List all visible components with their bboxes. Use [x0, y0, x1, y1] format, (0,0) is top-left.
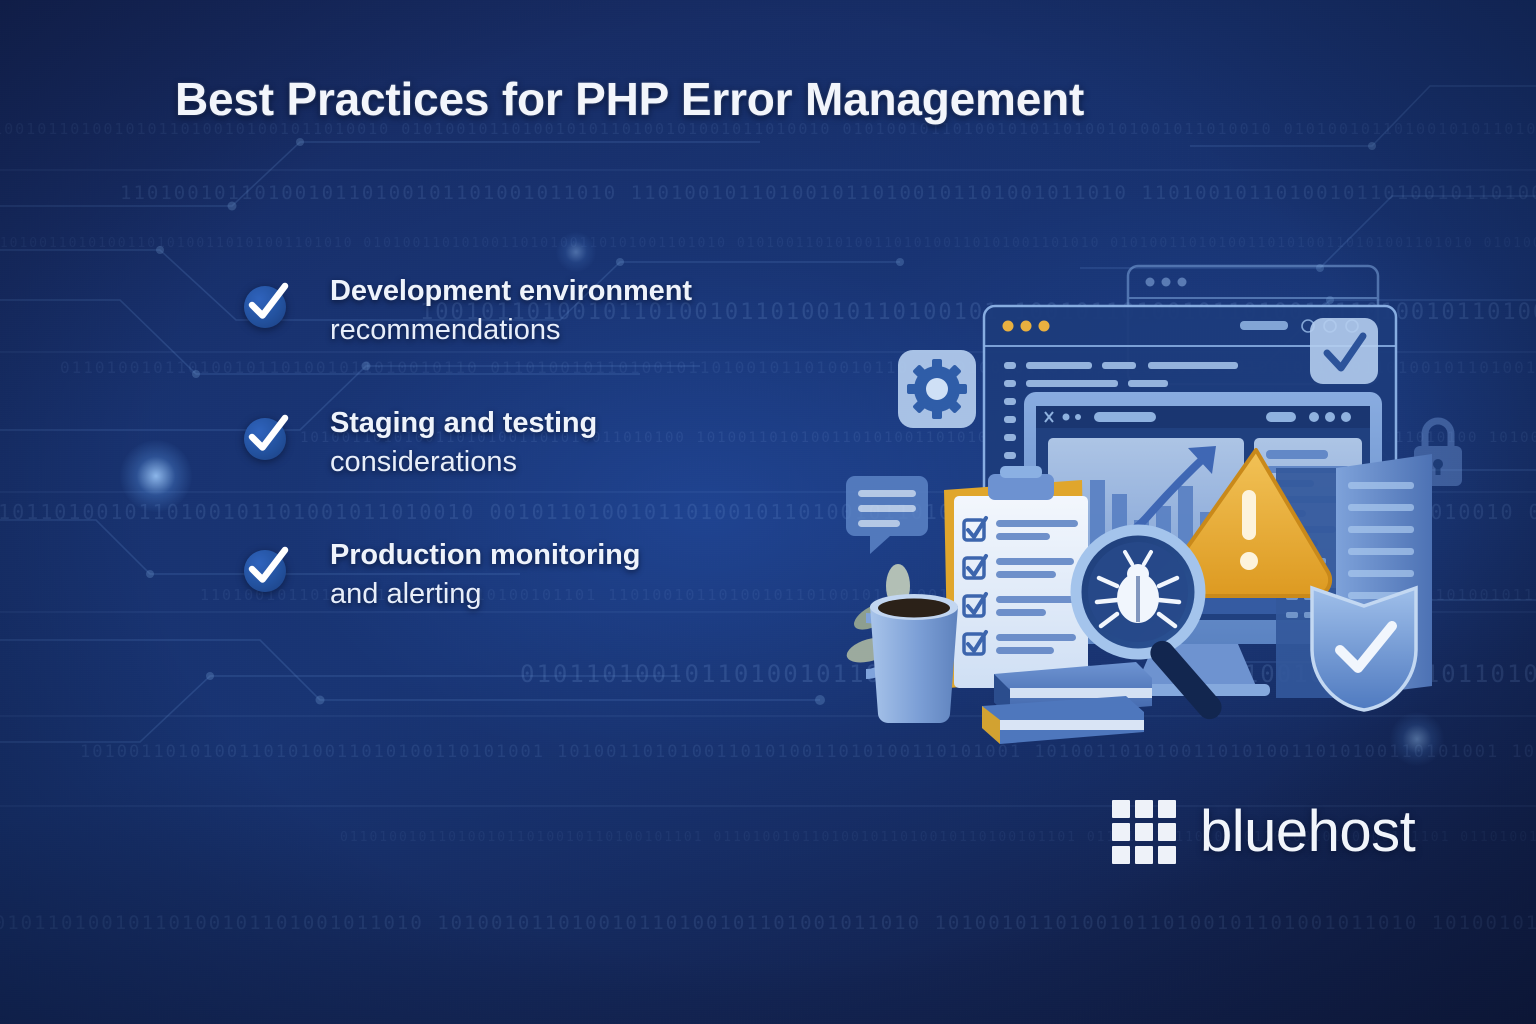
- binary-row: 101001011010010110100101101001011010 101…: [0, 912, 1536, 934]
- check-circle-icon: [244, 414, 290, 460]
- chat-bubble-icon: [846, 476, 928, 554]
- binary-row: 0101001101010011010100110101001101010 01…: [0, 236, 1536, 251]
- page-title: Best Practices for PHP Error Management: [175, 72, 1084, 126]
- shield-check-icon: [1312, 588, 1416, 710]
- check-badge-icon: [1310, 318, 1378, 384]
- list-item-title: Development environment: [330, 272, 858, 311]
- list-item-subtitle: and alerting: [330, 575, 858, 614]
- books-stack-icon: [982, 662, 1152, 744]
- list-item: Staging and testing considerations: [238, 404, 858, 522]
- bluehost-grid-icon: [1112, 800, 1176, 864]
- bluehost-wordmark: bluehost: [1200, 803, 1415, 861]
- binary-row: 1101001011010010110100101101001011010 11…: [120, 182, 1536, 204]
- glow-accent: [120, 440, 192, 512]
- bluehost-logo: bluehost: [1112, 800, 1415, 864]
- list-item-text: Development environment recommendations: [330, 272, 858, 349]
- list-item-text: Staging and testing considerations: [330, 404, 858, 481]
- list-item: Production monitoring and alerting: [238, 536, 858, 654]
- glow-accent: [556, 232, 596, 272]
- binary-row: 10100110101001101010011010100110101001 1…: [80, 742, 1536, 762]
- php-error-management-illustration: [836, 258, 1508, 744]
- check-circle-icon: [244, 282, 290, 328]
- gear-icon: [898, 350, 976, 428]
- list-item-title: Staging and testing: [330, 404, 858, 443]
- poster-canvas: 010100101101001010110100101001011010010 …: [0, 0, 1536, 1024]
- list-item-subtitle: recommendations: [330, 311, 858, 350]
- list-item-text: Production monitoring and alerting: [330, 536, 858, 613]
- bullet-list: Development environment recommendations …: [238, 272, 858, 654]
- list-item-subtitle: considerations: [330, 443, 858, 482]
- check-circle-icon: [244, 546, 290, 592]
- list-item-title: Production monitoring: [330, 536, 858, 575]
- clipboard-checklist-icon: [944, 466, 1088, 688]
- list-item: Development environment recommendations: [238, 272, 858, 390]
- coffee-mug-icon: [866, 594, 958, 723]
